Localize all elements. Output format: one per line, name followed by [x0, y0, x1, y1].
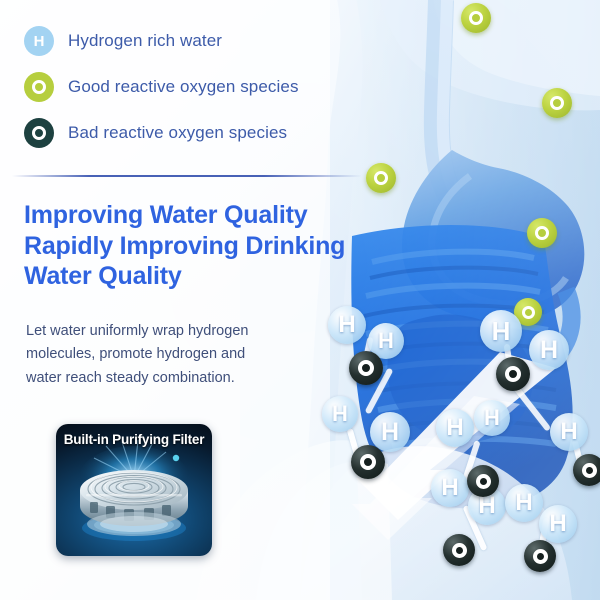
hydrogen-glyph: H	[560, 418, 577, 446]
hydrogen-marker: H	[539, 505, 577, 543]
oxygen-ring-glyph	[374, 171, 388, 185]
oxygen-ring-glyph	[32, 80, 46, 94]
oxygen-ring-glyph	[533, 549, 548, 564]
hydrogen-marker: H	[550, 413, 588, 451]
oxygen-ring-glyph	[582, 463, 597, 478]
oxygen-ring-glyph	[358, 360, 374, 376]
hydrogen-glyph: H	[381, 418, 399, 447]
oxygen-ring-glyph	[535, 226, 549, 240]
oxygen-ring-glyph	[550, 96, 564, 110]
infographic-canvas: H Hydrogen rich water Good reactive oxyg…	[0, 0, 600, 600]
inset-title: Built-in Purifying Filter	[56, 432, 212, 447]
hydrogen-marker: H	[474, 400, 510, 436]
hydrogen-glyph: H	[378, 328, 394, 354]
oxygen-ring-glyph	[476, 474, 491, 489]
description-line: water reach steady combination.	[26, 367, 296, 390]
legend-item-good-ros: Good reactive oxygen species	[24, 64, 384, 110]
oxygen-ring-glyph	[522, 306, 535, 319]
headline-line: Improving Water Quality	[24, 200, 374, 231]
hydrogen-marker: H	[480, 310, 522, 352]
oxygen-ring-glyph	[505, 366, 521, 382]
hydrogen-marker: H	[431, 469, 469, 507]
hydrogen-glyph: H	[332, 401, 348, 427]
bad-ros-marker	[573, 454, 600, 486]
oxygen-ring-glyph	[360, 454, 376, 470]
oxygen-ring-glyph	[452, 543, 467, 558]
hydrogen-marker: H	[328, 306, 366, 344]
product-inset-card: Built-in Purifying Filter	[56, 424, 212, 556]
good-ros-circle-icon	[24, 72, 54, 102]
legend-item-hydrogen: H Hydrogen rich water	[24, 18, 384, 64]
bad-ros-marker	[467, 465, 499, 497]
good-ros-marker	[461, 3, 491, 33]
hydrogen-glyph: H	[540, 336, 558, 365]
divider	[12, 175, 362, 177]
oxygen-ring-glyph	[32, 126, 46, 140]
description-text: Let water uniformly wrap hydrogen molecu…	[26, 320, 296, 390]
legend-item-bad-ros: Bad reactive oxygen species	[24, 110, 384, 156]
hydrogen-marker: H	[505, 484, 543, 522]
legend-label-bad-ros: Bad reactive oxygen species	[68, 123, 287, 143]
headline-line: Rapidly Improving Drinking	[24, 231, 374, 262]
hydrogen-glyph: H	[446, 414, 463, 442]
hydrogen-glyph: H	[338, 311, 355, 339]
hydrogen-glyph: H	[484, 405, 500, 431]
description-line: Let water uniformly wrap hydrogen	[26, 320, 296, 343]
hydrogen-glyph: H	[34, 34, 45, 49]
bad-ros-marker	[351, 445, 385, 479]
description-line: molecules, promote hydrogen and	[26, 343, 296, 366]
hydrogen-marker: H	[436, 409, 474, 447]
hydrogen-glyph: H	[441, 474, 458, 502]
hydrogen-marker: H	[529, 330, 569, 370]
good-ros-marker	[527, 218, 557, 248]
bad-ros-marker	[496, 357, 530, 391]
headline-line: Water Quality	[24, 261, 374, 292]
hydrogen-glyph: H	[515, 489, 532, 517]
legend: H Hydrogen rich water Good reactive oxyg…	[24, 18, 384, 156]
legend-label-hydrogen: Hydrogen rich water	[68, 31, 222, 51]
bad-ros-marker	[443, 534, 475, 566]
hydrogen-circle-icon: H	[24, 26, 54, 56]
oxygen-ring-glyph	[469, 11, 483, 25]
hydrogen-glyph: H	[492, 316, 511, 347]
bad-ros-marker	[524, 540, 556, 572]
hydrogen-marker: H	[322, 396, 358, 432]
legend-label-good-ros: Good reactive oxygen species	[68, 77, 299, 97]
hydrogen-glyph: H	[549, 510, 566, 538]
bad-ros-circle-icon	[24, 118, 54, 148]
page-title: Improving Water Quality Rapidly Improvin…	[24, 200, 374, 292]
good-ros-marker	[542, 88, 572, 118]
bad-ros-marker	[349, 351, 383, 385]
good-ros-marker	[366, 163, 396, 193]
